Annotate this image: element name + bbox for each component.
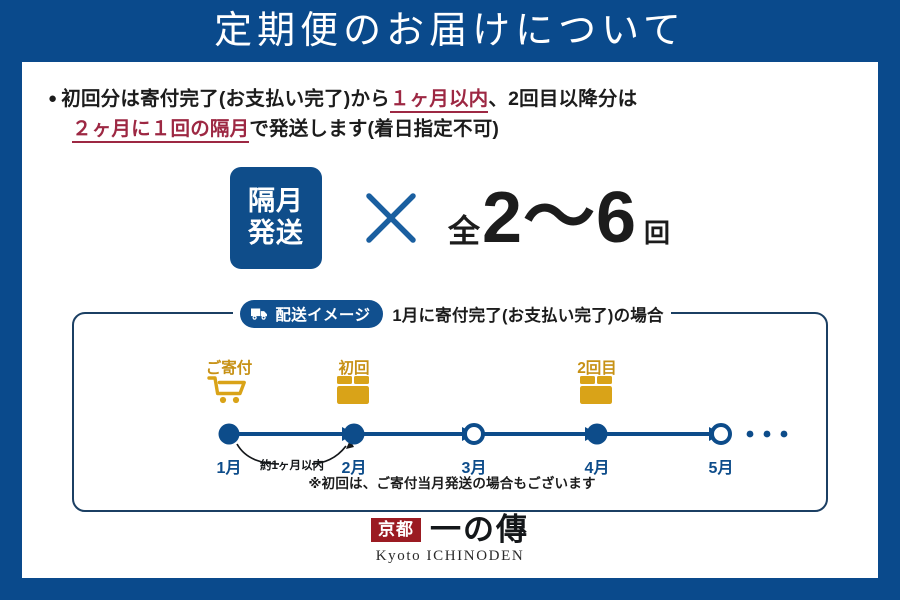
count-prefix-label: 全: [448, 206, 480, 252]
badge-label-line-2: 発送: [248, 218, 304, 250]
statement-emphasis-first-month: １ヶ月以内: [390, 88, 489, 113]
logo-mark: 京都 一の傳: [371, 514, 529, 545]
box-icon: [337, 376, 369, 404]
cart-icon: [209, 378, 244, 403]
timeline-cap-second: 2回目: [577, 356, 617, 378]
timeline-trailing-dots: [747, 431, 788, 438]
bullet-icon: ●: [48, 90, 57, 107]
logo-romanized-name: Kyoto ICHINODEN: [376, 548, 525, 565]
brand-logo: 京都 一の傳 Kyoto ICHINODEN: [22, 514, 878, 565]
multiply-icon: [360, 187, 422, 249]
bimonthly-badge: 隔月 発送: [230, 167, 322, 269]
timeline-dot-filled: [344, 424, 365, 445]
logo-kyoto-badge: 京都: [371, 518, 421, 542]
policy-statement: ●初回分は寄付完了(お支払い完了)から１ヶ月以内、2回目以降分は ２ヶ月に１回の…: [48, 84, 848, 144]
frequency-formula: 隔月 発送 全 2〜6 回: [22, 162, 878, 274]
statement-emphasis-bimonthly: ２ヶ月に１回の隔月: [72, 118, 249, 143]
delivery-count: 全 2〜6 回: [448, 182, 670, 254]
infographic-frame: 定期便のお届けについて ●初回分は寄付完了(お支払い完了)から１ヶ月以内、2回目…: [0, 0, 900, 600]
within-one-month-note: 約1ヶ月以内: [260, 457, 324, 473]
timeline-dot-filled: [587, 424, 608, 445]
timeline-cap-donation: ご寄付: [206, 356, 253, 378]
delivery-timeline-panel: 配送イメージ 1月に寄付完了(お支払い完了)の場合: [72, 312, 828, 512]
statement-line-2-part-2: で発送します(着日指定不可): [249, 118, 499, 140]
header-banner: 定期便のお届けについて: [0, 0, 900, 62]
timeline-footnote: ※初回は、ご寄付当月発送の場合もございます: [74, 472, 830, 492]
logo-brand-name: 一の傳: [430, 514, 529, 545]
timeline-dot-hollow: [712, 425, 730, 443]
statement-line-1: ●初回分は寄付完了(お支払い完了)から１ヶ月以内、2回目以降分は: [48, 84, 848, 114]
statement-line-1-part-2: 、2回目以降分は: [488, 88, 637, 110]
box-icon: [580, 376, 612, 404]
statement-line-1-part-1: 初回分は寄付完了(お支払い完了)から: [61, 88, 390, 110]
page-title: 定期便のお届けについて: [214, 12, 686, 50]
count-range-value: 2〜6: [482, 182, 637, 254]
badge-label-line-1: 隔月: [248, 186, 304, 218]
timeline-cap-first: 初回: [338, 356, 369, 378]
count-unit-label: 回: [644, 213, 670, 250]
timeline-dot-hollow: [465, 425, 483, 443]
timeline-dot-filled: [219, 424, 240, 445]
statement-line-2: ２ヶ月に１回の隔月で発送します(着日指定不可): [48, 114, 848, 144]
content-card: ●初回分は寄付完了(お支払い完了)から１ヶ月以内、2回目以降分は ２ヶ月に１回の…: [22, 62, 878, 578]
